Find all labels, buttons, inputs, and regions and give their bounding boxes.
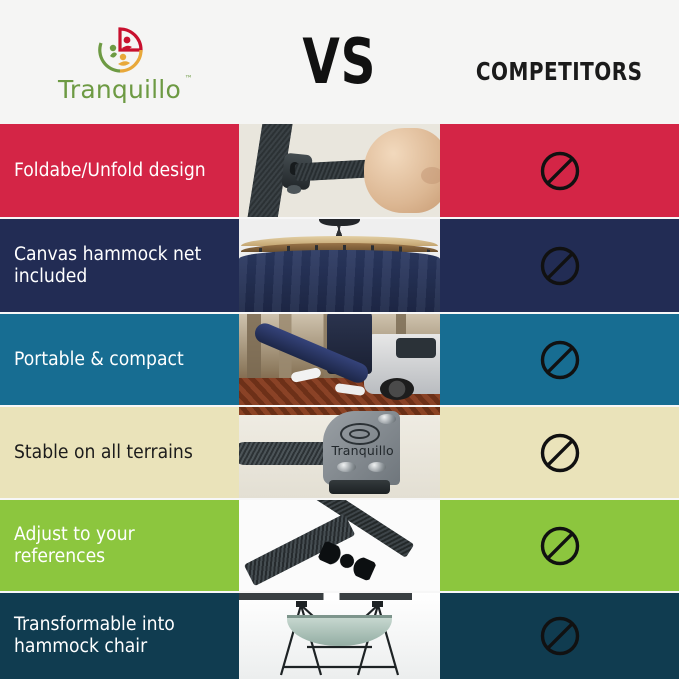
- row-divider: [0, 498, 679, 500]
- adjustment-holes: [318, 540, 378, 581]
- row-divider: [0, 312, 679, 314]
- feature-label: Portable & compact: [14, 349, 184, 371]
- vs-separator: VS: [239, 0, 440, 124]
- competitors-label: COMPETITORS: [476, 57, 643, 86]
- feature-cell: Portable & compact: [0, 314, 239, 405]
- photo-art: [239, 500, 440, 591]
- table-row: Adjust to your references: [0, 500, 679, 591]
- bolt: [368, 462, 386, 472]
- prohibition-icon: [538, 149, 582, 193]
- feature-photo: [239, 124, 440, 217]
- prohibition-icon: [538, 614, 582, 658]
- vs-label: VS: [303, 31, 377, 93]
- tranquillo-swirl-icon: [89, 26, 151, 76]
- feature-cell: Stable on all terrains: [0, 407, 239, 498]
- table-row: Transformable into hammock chair: [0, 593, 679, 679]
- chart-header: Tranquillo ™ VS COMPETITORS: [0, 0, 679, 124]
- competitor-cell: [440, 314, 679, 405]
- photo-art: [239, 593, 440, 679]
- photo-art: [239, 314, 440, 405]
- brand-logo: Tranquillo ™: [0, 0, 239, 124]
- brand-wordmark: Tranquillo ™: [58, 77, 181, 102]
- feature-cell: Canvas hammock net included: [0, 219, 239, 312]
- trademark-symbol: ™: [185, 75, 193, 83]
- competitor-cell: [440, 593, 679, 679]
- feature-label: Foldabe/Unfold design: [14, 160, 206, 182]
- table-row: Canvas hammock net included: [0, 219, 679, 312]
- competitor-cell: [440, 407, 679, 498]
- feature-label: Stable on all terrains: [14, 442, 193, 464]
- photo-art: [239, 219, 440, 312]
- prohibition-icon: [538, 524, 582, 568]
- photo-art: Tranquillo: [239, 407, 440, 498]
- feature-photo: [239, 500, 440, 591]
- stand-foot: [329, 480, 389, 495]
- photo-brand-label: Tranquillo: [331, 443, 393, 458]
- photo-art: [239, 124, 440, 217]
- table-row: Stable on all terrains Tranquillo: [0, 407, 679, 498]
- competitor-cell: [440, 219, 679, 312]
- feature-photo: [239, 593, 440, 679]
- feature-photo: [239, 219, 440, 312]
- comparison-chart: Tranquillo ™ VS COMPETITORS Foldabe/Unfo…: [0, 0, 679, 679]
- feature-photo: Tranquillo: [239, 407, 440, 498]
- brand-name-text: Tranquillo: [58, 75, 181, 104]
- hand-illustration: [364, 128, 440, 214]
- car-wheel: [380, 378, 414, 400]
- feature-cell: Transformable into hammock chair: [0, 593, 239, 679]
- feature-cell: Foldabe/Unfold design: [0, 124, 239, 217]
- competitor-cell: [440, 500, 679, 591]
- tranquillo-swirl-icon: [340, 423, 380, 445]
- feature-label: Canvas hammock net included: [14, 244, 210, 288]
- joint-knob: [287, 185, 301, 193]
- knuckle-shade: [421, 167, 440, 184]
- car-window: [396, 338, 436, 358]
- feature-cell: Adjust to your references: [0, 500, 239, 591]
- row-divider: [0, 591, 679, 593]
- feature-label: Adjust to your references: [14, 524, 210, 568]
- table-row: Portable & compact: [0, 314, 679, 405]
- feature-photo: [239, 314, 440, 405]
- prohibition-icon: [538, 431, 582, 475]
- competitors-header: COMPETITORS: [440, 0, 679, 124]
- prohibition-icon: [538, 244, 582, 288]
- table-row: Foldabe/Unfold design: [0, 124, 679, 217]
- row-divider: [0, 405, 679, 407]
- feature-label: Transformable into hammock chair: [14, 614, 210, 658]
- row-divider: [0, 217, 679, 219]
- bolt: [337, 462, 355, 472]
- navy-canvas: [239, 250, 440, 312]
- competitor-cell: [440, 124, 679, 217]
- prohibition-icon: [538, 338, 582, 382]
